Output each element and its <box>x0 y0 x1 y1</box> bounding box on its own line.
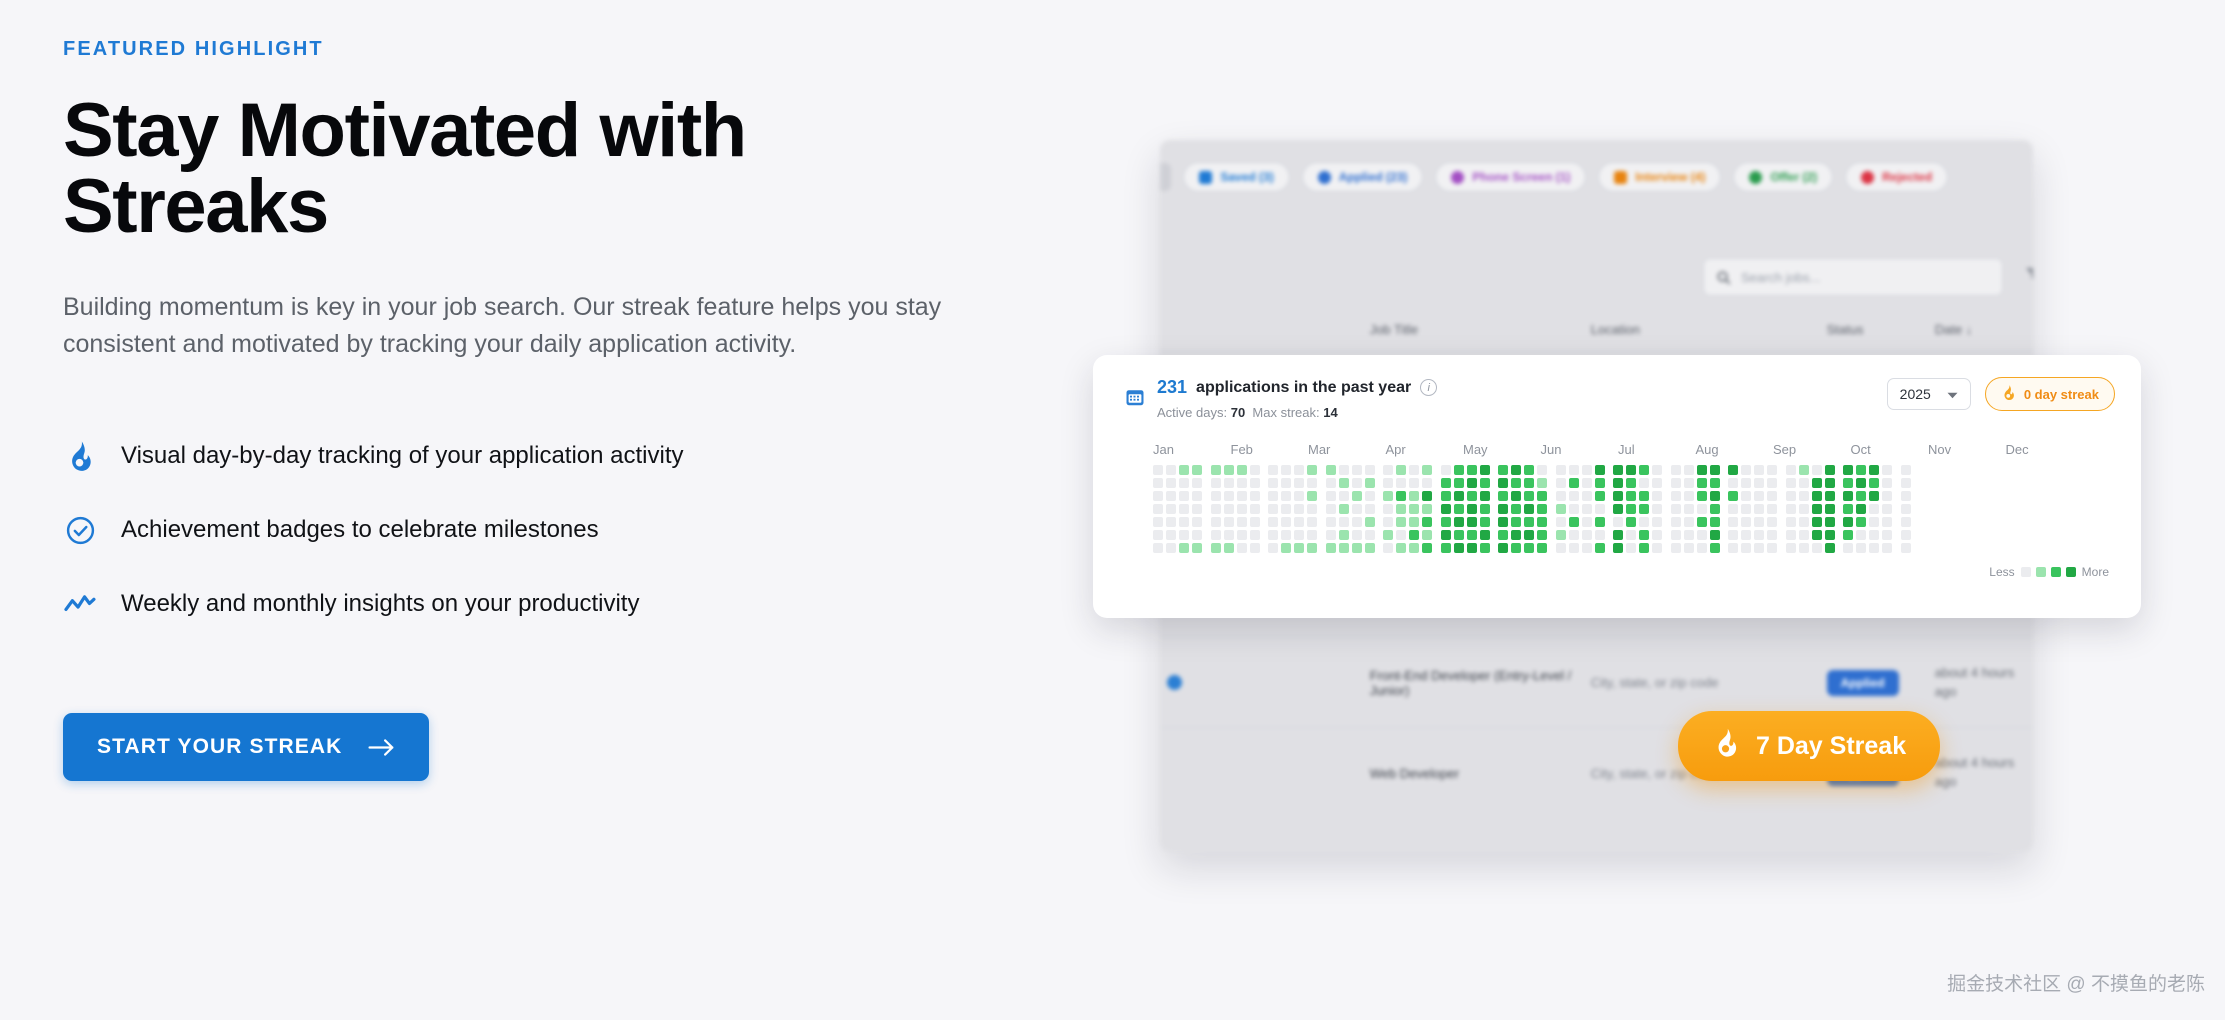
heatmap-day-cell[interactable] <box>1383 491 1393 501</box>
heatmap-day-cell[interactable] <box>1480 478 1490 488</box>
heatmap-day-cell[interactable] <box>1224 478 1234 488</box>
heatmap-day-cell[interactable] <box>1498 465 1508 475</box>
heatmap-day-cell[interactable] <box>1671 465 1681 475</box>
heatmap-day-cell[interactable] <box>1326 517 1336 527</box>
heatmap-day-cell[interactable] <box>1480 517 1490 527</box>
heatmap-day-cell[interactable] <box>1710 530 1720 540</box>
heatmap-day-cell[interactable] <box>1383 543 1393 553</box>
heatmap-day-cell[interactable] <box>1396 491 1406 501</box>
heatmap-day-cell[interactable] <box>1710 517 1720 527</box>
column-header-date[interactable]: Date ↓ <box>1935 322 2033 337</box>
heatmap-day-cell[interactable] <box>1582 543 1592 553</box>
heatmap-day-cell[interactable] <box>1326 543 1336 553</box>
heatmap-day-cell[interactable] <box>1684 530 1694 540</box>
heatmap-day-cell[interactable] <box>1537 543 1547 553</box>
heatmap-day-cell[interactable] <box>1250 504 1260 514</box>
heatmap-day-cell[interactable] <box>1294 530 1304 540</box>
heatmap-day-cell[interactable] <box>1480 530 1490 540</box>
heatmap-day-cell[interactable] <box>1569 543 1579 553</box>
heatmap-day-cell[interactable] <box>1671 543 1681 553</box>
heatmap-day-cell[interactable] <box>1684 517 1694 527</box>
heatmap-day-cell[interactable] <box>1268 517 1278 527</box>
heatmap-day-cell[interactable] <box>1365 530 1375 540</box>
heatmap-day-cell[interactable] <box>1294 543 1304 553</box>
heatmap-day-cell[interactable] <box>1339 491 1349 501</box>
heatmap-day-cell[interactable] <box>1767 517 1777 527</box>
heatmap-day-cell[interactable] <box>1441 465 1451 475</box>
heatmap-day-cell[interactable] <box>1383 478 1393 488</box>
heatmap-day-cell[interactable] <box>1409 517 1419 527</box>
heatmap-day-cell[interactable] <box>1211 543 1221 553</box>
heatmap-day-cell[interactable] <box>1166 543 1176 553</box>
heatmap-day-cell[interactable] <box>1754 465 1764 475</box>
heatmap-day-cell[interactable] <box>1326 530 1336 540</box>
heatmap-day-cell[interactable] <box>1441 504 1451 514</box>
heatmap-day-cell[interactable] <box>1268 478 1278 488</box>
heatmap-day-cell[interactable] <box>1556 478 1566 488</box>
heatmap-day-cell[interactable] <box>1268 530 1278 540</box>
heatmap-day-cell[interactable] <box>1422 465 1432 475</box>
heatmap-day-cell[interactable] <box>1409 478 1419 488</box>
heatmap-day-cell[interactable] <box>1812 530 1822 540</box>
heatmap-day-cell[interactable] <box>1613 543 1623 553</box>
heatmap-day-cell[interactable] <box>1639 491 1649 501</box>
heatmap-day-cell[interactable] <box>1396 530 1406 540</box>
heatmap-day-cell[interactable] <box>1307 465 1317 475</box>
heatmap-day-cell[interactable] <box>1741 478 1751 488</box>
heatmap-day-cell[interactable] <box>1639 530 1649 540</box>
heatmap-day-cell[interactable] <box>1211 530 1221 540</box>
heatmap-day-cell[interactable] <box>1697 491 1707 501</box>
heatmap-day-cell[interactable] <box>1569 530 1579 540</box>
heatmap-day-cell[interactable] <box>1153 465 1163 475</box>
heatmap-day-cell[interactable] <box>1825 543 1835 553</box>
heatmap-day-cell[interactable] <box>1211 491 1221 501</box>
heatmap-day-cell[interactable] <box>1339 465 1349 475</box>
heatmap-day-cell[interactable] <box>1268 465 1278 475</box>
heatmap-day-cell[interactable] <box>1569 465 1579 475</box>
heatmap-day-cell[interactable] <box>1882 478 1892 488</box>
heatmap-day-cell[interactable] <box>1422 478 1432 488</box>
heatmap-day-cell[interactable] <box>1825 517 1835 527</box>
heatmap-day-cell[interactable] <box>1595 504 1605 514</box>
start-your-streak-button[interactable]: START YOUR STREAK <box>63 713 429 781</box>
heatmap-day-cell[interactable] <box>1294 478 1304 488</box>
heatmap-day-cell[interactable] <box>1352 465 1362 475</box>
heatmap-day-cell[interactable] <box>1799 530 1809 540</box>
heatmap-day-cell[interactable] <box>1281 491 1291 501</box>
heatmap-day-cell[interactable] <box>1825 530 1835 540</box>
heatmap-day-cell[interactable] <box>1166 504 1176 514</box>
heatmap-day-cell[interactable] <box>1352 478 1362 488</box>
heatmap-day-cell[interactable] <box>1728 504 1738 514</box>
heatmap-day-cell[interactable] <box>1365 465 1375 475</box>
heatmap-day-cell[interactable] <box>1882 491 1892 501</box>
heatmap-day-cell[interactable] <box>1671 491 1681 501</box>
heatmap-day-cell[interactable] <box>1498 530 1508 540</box>
heatmap-day-cell[interactable] <box>1454 543 1464 553</box>
heatmap-day-cell[interactable] <box>1467 504 1477 514</box>
heatmap-day-cell[interactable] <box>1595 491 1605 501</box>
heatmap-day-cell[interactable] <box>1192 543 1202 553</box>
heatmap-day-cell[interactable] <box>1825 504 1835 514</box>
heatmap-day-cell[interactable] <box>1697 543 1707 553</box>
heatmap-day-cell[interactable] <box>1728 478 1738 488</box>
heatmap-day-cell[interactable] <box>1786 478 1796 488</box>
heatmap-day-cell[interactable] <box>1409 465 1419 475</box>
heatmap-day-cell[interactable] <box>1652 530 1662 540</box>
heatmap-day-cell[interactable] <box>1652 543 1662 553</box>
heatmap-day-cell[interactable] <box>1901 543 1911 553</box>
heatmap-day-cell[interactable] <box>1307 543 1317 553</box>
heatmap-day-cell[interactable] <box>1498 543 1508 553</box>
heatmap-day-cell[interactable] <box>1454 504 1464 514</box>
heatmap-day-cell[interactable] <box>1307 504 1317 514</box>
heatmap-day-cell[interactable] <box>1613 530 1623 540</box>
heatmap-day-cell[interactable] <box>1812 465 1822 475</box>
heatmap-day-cell[interactable] <box>1237 530 1247 540</box>
heatmap-day-cell[interactable] <box>1639 504 1649 514</box>
heatmap-day-cell[interactable] <box>1741 504 1751 514</box>
heatmap-day-cell[interactable] <box>1556 491 1566 501</box>
heatmap-day-cell[interactable] <box>1192 491 1202 501</box>
heatmap-day-cell[interactable] <box>1869 530 1879 540</box>
heatmap-day-cell[interactable] <box>1480 504 1490 514</box>
heatmap-day-cell[interactable] <box>1697 517 1707 527</box>
heatmap-day-cell[interactable] <box>1856 478 1866 488</box>
heatmap-day-cell[interactable] <box>1281 504 1291 514</box>
heatmap-day-cell[interactable] <box>1307 478 1317 488</box>
heatmap-day-cell[interactable] <box>1582 465 1592 475</box>
heatmap-day-cell[interactable] <box>1882 504 1892 514</box>
heatmap-day-cell[interactable] <box>1524 465 1534 475</box>
heatmap-day-cell[interactable] <box>1454 517 1464 527</box>
heatmap-day-cell[interactable] <box>1582 530 1592 540</box>
heatmap-day-cell[interactable] <box>1901 517 1911 527</box>
heatmap-day-cell[interactable] <box>1639 543 1649 553</box>
heatmap-day-cell[interactable] <box>1179 517 1189 527</box>
heatmap-day-cell[interactable] <box>1352 517 1362 527</box>
heatmap-day-cell[interactable] <box>1626 517 1636 527</box>
heatmap-day-cell[interactable] <box>1409 543 1419 553</box>
heatmap-day-cell[interactable] <box>1671 517 1681 527</box>
heatmap-day-cell[interactable] <box>1882 517 1892 527</box>
heatmap-day-cell[interactable] <box>1786 543 1796 553</box>
heatmap-day-cell[interactable] <box>1710 465 1720 475</box>
heatmap-day-cell[interactable] <box>1441 491 1451 501</box>
heatmap-day-cell[interactable] <box>1671 478 1681 488</box>
heatmap-day-cell[interactable] <box>1812 517 1822 527</box>
heatmap-day-cell[interactable] <box>1422 543 1432 553</box>
heatmap-day-cell[interactable] <box>1799 478 1809 488</box>
heatmap-day-cell[interactable] <box>1767 465 1777 475</box>
heatmap-day-cell[interactable] <box>1754 478 1764 488</box>
heatmap-day-cell[interactable] <box>1710 504 1720 514</box>
heatmap-day-cell[interactable] <box>1613 478 1623 488</box>
heatmap-day-cell[interactable] <box>1153 478 1163 488</box>
heatmap-day-cell[interactable] <box>1511 465 1521 475</box>
heatmap-day-cell[interactable] <box>1799 504 1809 514</box>
heatmap-day-cell[interactable] <box>1652 517 1662 527</box>
heatmap-day-cell[interactable] <box>1595 465 1605 475</box>
heatmap-day-cell[interactable] <box>1869 491 1879 501</box>
heatmap-day-cell[interactable] <box>1569 491 1579 501</box>
heatmap-day-cell[interactable] <box>1869 478 1879 488</box>
heatmap-day-cell[interactable] <box>1281 543 1291 553</box>
heatmap-day-cell[interactable] <box>1613 465 1623 475</box>
heatmap-day-cell[interactable] <box>1511 478 1521 488</box>
filter-icon[interactable] <box>2025 266 2033 287</box>
heatmap-day-cell[interactable] <box>1582 491 1592 501</box>
heatmap-day-cell[interactable] <box>1365 478 1375 488</box>
heatmap-day-cell[interactable] <box>1626 504 1636 514</box>
heatmap-day-cell[interactable] <box>1281 517 1291 527</box>
heatmap-day-cell[interactable] <box>1498 478 1508 488</box>
heatmap-day-cell[interactable] <box>1352 530 1362 540</box>
heatmap-day-cell[interactable] <box>1192 517 1202 527</box>
heatmap-day-cell[interactable] <box>1697 465 1707 475</box>
heatmap-day-cell[interactable] <box>1383 517 1393 527</box>
heatmap-day-cell[interactable] <box>1326 478 1336 488</box>
heatmap-day-cell[interactable] <box>1396 517 1406 527</box>
heatmap-day-cell[interactable] <box>1569 504 1579 514</box>
heatmap-day-cell[interactable] <box>1856 465 1866 475</box>
heatmap-day-cell[interactable] <box>1537 491 1547 501</box>
heatmap-day-cell[interactable] <box>1639 478 1649 488</box>
heatmap-day-cell[interactable] <box>1812 543 1822 553</box>
heatmap-day-cell[interactable] <box>1728 543 1738 553</box>
heatmap-day-cell[interactable] <box>1595 530 1605 540</box>
heatmap-day-cell[interactable] <box>1843 478 1853 488</box>
heatmap-day-cell[interactable] <box>1639 465 1649 475</box>
heatmap-day-cell[interactable] <box>1799 543 1809 553</box>
heatmap-day-cell[interactable] <box>1224 517 1234 527</box>
heatmap-day-cell[interactable] <box>1728 465 1738 475</box>
heatmap-day-cell[interactable] <box>1728 530 1738 540</box>
heatmap-day-cell[interactable] <box>1799 517 1809 527</box>
heatmap-day-cell[interactable] <box>1307 491 1317 501</box>
heatmap-day-cell[interactable] <box>1524 530 1534 540</box>
heatmap-day-cell[interactable] <box>1179 530 1189 540</box>
heatmap-day-cell[interactable] <box>1882 465 1892 475</box>
heatmap-day-cell[interactable] <box>1192 465 1202 475</box>
heatmap-day-cell[interactable] <box>1684 465 1694 475</box>
heatmap-day-cell[interactable] <box>1511 517 1521 527</box>
heatmap-day-cell[interactable] <box>1856 543 1866 553</box>
heatmap-day-cell[interactable] <box>1326 491 1336 501</box>
heatmap-day-cell[interactable] <box>1179 543 1189 553</box>
heatmap-day-cell[interactable] <box>1856 530 1866 540</box>
heatmap-day-cell[interactable] <box>1268 543 1278 553</box>
heatmap-day-cell[interactable] <box>1307 517 1317 527</box>
heatmap-day-cell[interactable] <box>1166 491 1176 501</box>
heatmap-day-cell[interactable] <box>1569 478 1579 488</box>
year-select[interactable]: 2025 <box>1887 378 1971 410</box>
heatmap-day-cell[interactable] <box>1294 517 1304 527</box>
heatmap-day-cell[interactable] <box>1396 543 1406 553</box>
heatmap-day-cell[interactable] <box>1250 491 1260 501</box>
heatmap-day-cell[interactable] <box>1365 491 1375 501</box>
heatmap-day-cell[interactable] <box>1396 478 1406 488</box>
heatmap-day-cell[interactable] <box>1179 465 1189 475</box>
heatmap-day-cell[interactable] <box>1767 543 1777 553</box>
heatmap-day-cell[interactable] <box>1697 530 1707 540</box>
heatmap-day-cell[interactable] <box>1365 517 1375 527</box>
heatmap-day-cell[interactable] <box>1556 465 1566 475</box>
heatmap-day-cell[interactable] <box>1869 504 1879 514</box>
heatmap-day-cell[interactable] <box>1192 478 1202 488</box>
heatmap-day-cell[interactable] <box>1409 504 1419 514</box>
filter-pill-phone-screen[interactable]: Phone Screen (1) <box>1435 162 1586 192</box>
heatmap-day-cell[interactable] <box>1307 530 1317 540</box>
heatmap-day-cell[interactable] <box>1192 530 1202 540</box>
filter-pill-applied[interactable]: Applied (23) <box>1302 162 1424 192</box>
heatmap-day-cell[interactable] <box>1799 491 1809 501</box>
heatmap-day-cell[interactable] <box>1153 517 1163 527</box>
heatmap-day-cell[interactable] <box>1281 465 1291 475</box>
heatmap-day-cell[interactable] <box>1224 465 1234 475</box>
heatmap-day-cell[interactable] <box>1595 517 1605 527</box>
heatmap-day-cell[interactable] <box>1537 530 1547 540</box>
heatmap-day-cell[interactable] <box>1281 478 1291 488</box>
heatmap-day-cell[interactable] <box>1480 465 1490 475</box>
heatmap-day-cell[interactable] <box>1799 465 1809 475</box>
heatmap-day-cell[interactable] <box>1825 465 1835 475</box>
heatmap-day-cell[interactable] <box>1843 504 1853 514</box>
heatmap-day-cell[interactable] <box>1697 478 1707 488</box>
heatmap-day-cell[interactable] <box>1767 504 1777 514</box>
heatmap-day-cell[interactable] <box>1237 517 1247 527</box>
heatmap-day-cell[interactable] <box>1728 491 1738 501</box>
heatmap-day-cell[interactable] <box>1613 491 1623 501</box>
heatmap-day-cell[interactable] <box>1153 491 1163 501</box>
heatmap-day-cell[interactable] <box>1684 478 1694 488</box>
heatmap-day-cell[interactable] <box>1166 478 1176 488</box>
heatmap-day-cell[interactable] <box>1856 517 1866 527</box>
heatmap-day-cell[interactable] <box>1339 504 1349 514</box>
heatmap-day-cell[interactable] <box>1396 465 1406 475</box>
heatmap-day-cell[interactable] <box>1524 543 1534 553</box>
heatmap-day-cell[interactable] <box>1524 478 1534 488</box>
heatmap-day-cell[interactable] <box>1454 465 1464 475</box>
heatmap-day-cell[interactable] <box>1224 491 1234 501</box>
heatmap-day-cell[interactable] <box>1409 530 1419 540</box>
heatmap-day-cell[interactable] <box>1741 517 1751 527</box>
heatmap-day-cell[interactable] <box>1352 543 1362 553</box>
heatmap-day-cell[interactable] <box>1422 504 1432 514</box>
heatmap-day-cell[interactable] <box>1441 543 1451 553</box>
filter-pill-all-jobs[interactable]: All Jobs (34) <box>1160 163 1171 191</box>
heatmap-day-cell[interactable] <box>1652 465 1662 475</box>
heatmap-day-cell[interactable] <box>1537 478 1547 488</box>
heatmap-day-cell[interactable] <box>1613 504 1623 514</box>
heatmap-day-cell[interactable] <box>1537 504 1547 514</box>
heatmap-day-cell[interactable] <box>1882 530 1892 540</box>
heatmap-day-cell[interactable] <box>1652 478 1662 488</box>
heatmap-day-cell[interactable] <box>1467 543 1477 553</box>
heatmap-day-cell[interactable] <box>1511 504 1521 514</box>
heatmap-day-cell[interactable] <box>1339 543 1349 553</box>
heatmap-day-cell[interactable] <box>1901 465 1911 475</box>
heatmap-day-cell[interactable] <box>1652 491 1662 501</box>
heatmap-day-cell[interactable] <box>1556 530 1566 540</box>
heatmap-day-cell[interactable] <box>1224 530 1234 540</box>
heatmap-day-cell[interactable] <box>1613 517 1623 527</box>
heatmap-day-cell[interactable] <box>1556 504 1566 514</box>
heatmap-day-cell[interactable] <box>1281 530 1291 540</box>
heatmap-day-cell[interactable] <box>1524 504 1534 514</box>
heatmap-day-cell[interactable] <box>1754 543 1764 553</box>
heatmap-day-cell[interactable] <box>1383 530 1393 540</box>
heatmap-day-cell[interactable] <box>1684 543 1694 553</box>
filter-pill-saved[interactable]: Saved (3) <box>1183 162 1289 192</box>
heatmap-day-cell[interactable] <box>1869 543 1879 553</box>
heatmap-day-cell[interactable] <box>1684 504 1694 514</box>
heatmap-day-cell[interactable] <box>1639 517 1649 527</box>
heatmap-day-cell[interactable] <box>1250 465 1260 475</box>
heatmap-day-cell[interactable] <box>1843 491 1853 501</box>
heatmap-day-cell[interactable] <box>1595 478 1605 488</box>
heatmap-day-cell[interactable] <box>1626 465 1636 475</box>
heatmap-day-cell[interactable] <box>1754 530 1764 540</box>
heatmap-day-cell[interactable] <box>1741 543 1751 553</box>
heatmap-day-cell[interactable] <box>1511 530 1521 540</box>
heatmap-day-cell[interactable] <box>1441 478 1451 488</box>
heatmap-day-cell[interactable] <box>1211 504 1221 514</box>
heatmap-day-cell[interactable] <box>1825 491 1835 501</box>
heatmap-day-cell[interactable] <box>1582 517 1592 527</box>
heatmap-day-cell[interactable] <box>1498 491 1508 501</box>
heatmap-day-cell[interactable] <box>1211 517 1221 527</box>
heatmap-day-cell[interactable] <box>1710 543 1720 553</box>
heatmap-day-cell[interactable] <box>1192 504 1202 514</box>
heatmap-day-cell[interactable] <box>1237 504 1247 514</box>
heatmap-day-cell[interactable] <box>1409 491 1419 501</box>
heatmap-day-cell[interactable] <box>1441 530 1451 540</box>
heatmap-day-cell[interactable] <box>1294 465 1304 475</box>
heatmap-day-cell[interactable] <box>1652 504 1662 514</box>
heatmap-day-cell[interactable] <box>1268 491 1278 501</box>
heatmap-day-cell[interactable] <box>1498 504 1508 514</box>
heatmap-day-cell[interactable] <box>1901 504 1911 514</box>
heatmap-day-cell[interactable] <box>1671 530 1681 540</box>
heatmap-day-cell[interactable] <box>1537 517 1547 527</box>
heatmap-day-cell[interactable] <box>1901 478 1911 488</box>
heatmap-day-cell[interactable] <box>1441 517 1451 527</box>
heatmap-day-cell[interactable] <box>1812 504 1822 514</box>
heatmap-day-cell[interactable] <box>1224 543 1234 553</box>
heatmap-day-cell[interactable] <box>1524 517 1534 527</box>
heatmap-day-cell[interactable] <box>1339 517 1349 527</box>
heatmap-day-cell[interactable] <box>1237 465 1247 475</box>
heatmap-day-cell[interactable] <box>1237 491 1247 501</box>
heatmap-day-cell[interactable] <box>1339 530 1349 540</box>
heatmap-day-cell[interactable] <box>1480 543 1490 553</box>
heatmap-day-cell[interactable] <box>1569 517 1579 527</box>
heatmap-day-cell[interactable] <box>1179 491 1189 501</box>
heatmap-day-cell[interactable] <box>1843 465 1853 475</box>
heatmap-day-cell[interactable] <box>1882 543 1892 553</box>
info-icon[interactable]: i <box>1420 379 1437 396</box>
heatmap-day-cell[interactable] <box>1741 465 1751 475</box>
heatmap-day-cell[interactable] <box>1365 504 1375 514</box>
heatmap-day-cell[interactable] <box>1767 530 1777 540</box>
heatmap-day-cell[interactable] <box>1825 478 1835 488</box>
filter-pill-offer[interactable]: Offer (2) <box>1733 162 1833 192</box>
heatmap-day-cell[interactable] <box>1250 530 1260 540</box>
heatmap-day-cell[interactable] <box>1843 517 1853 527</box>
heatmap-day-cell[interactable] <box>1856 504 1866 514</box>
